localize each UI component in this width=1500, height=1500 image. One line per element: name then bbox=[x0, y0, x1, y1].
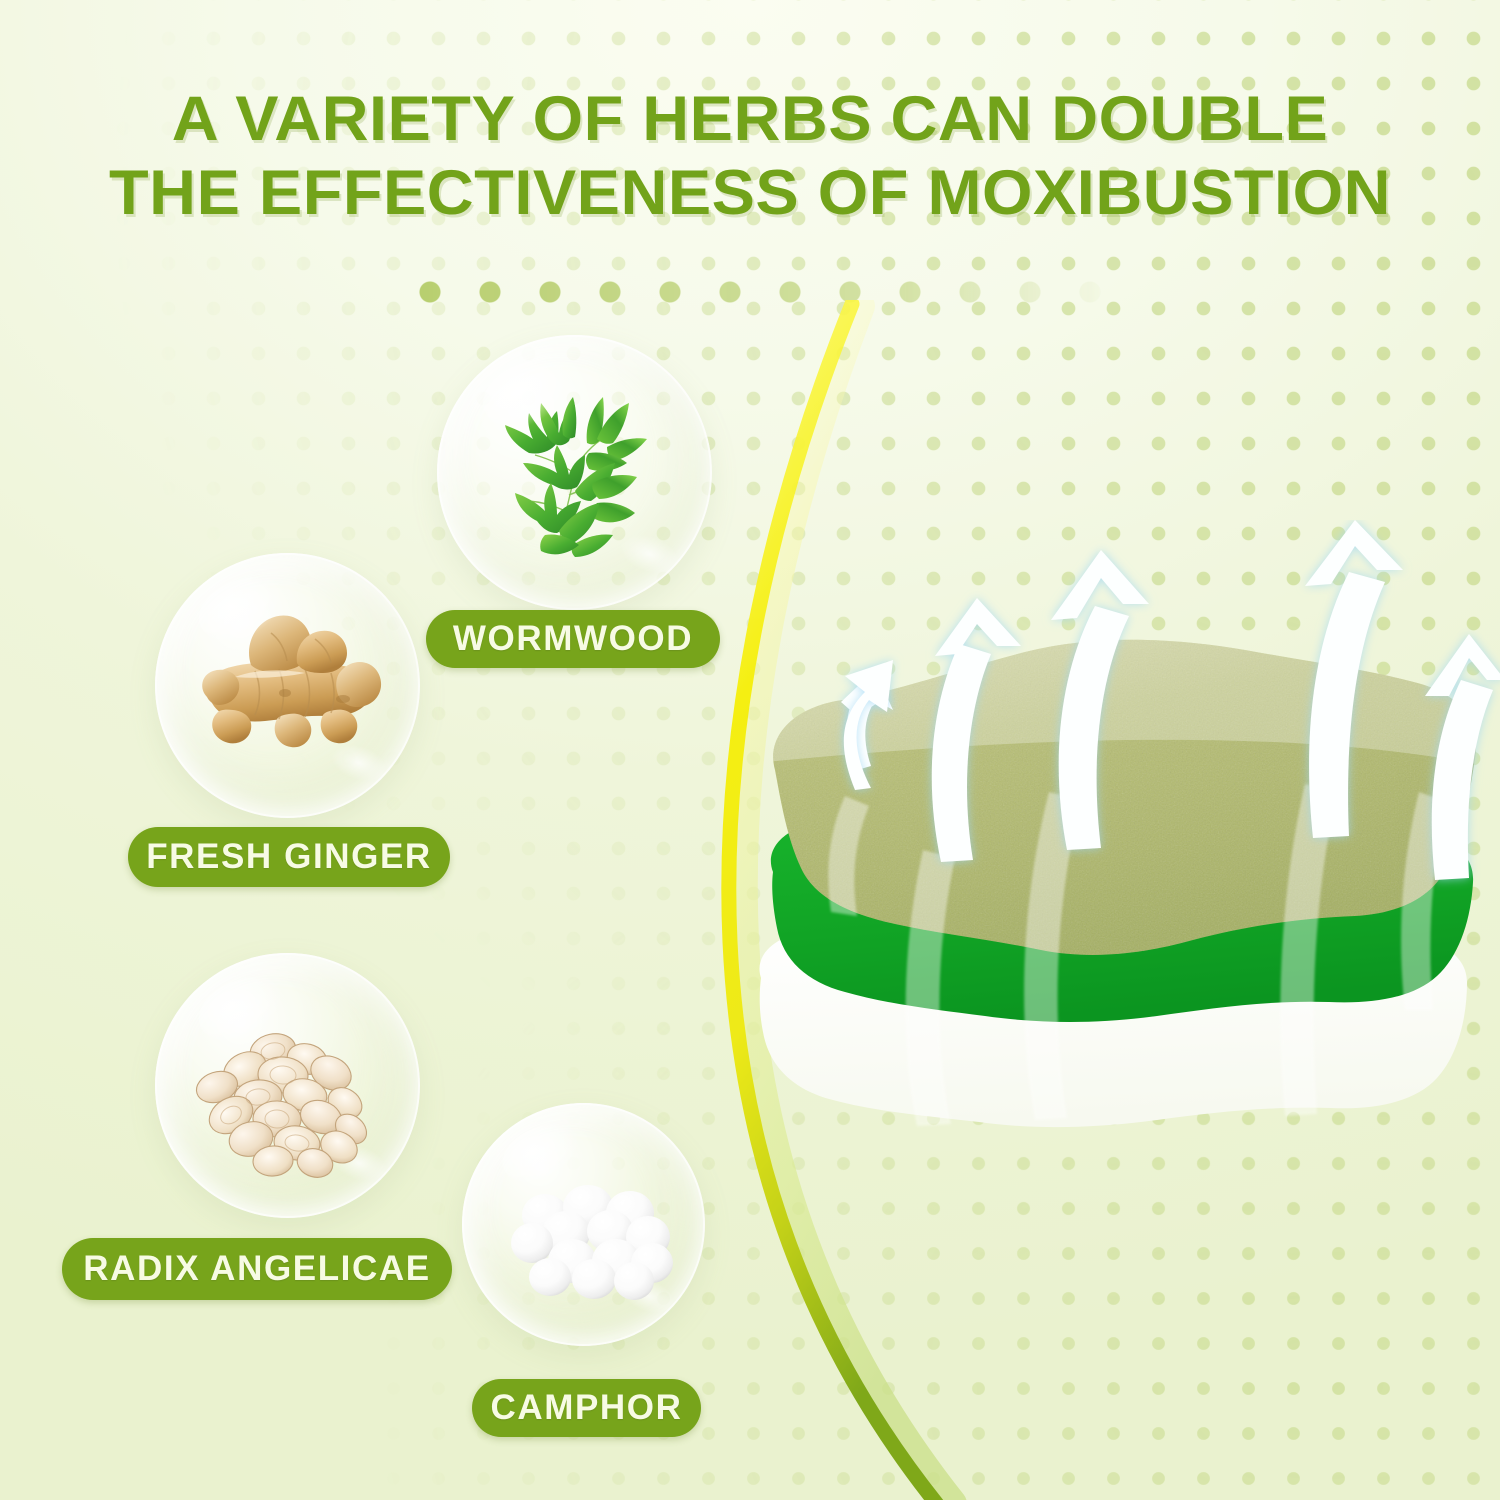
ingredient-bubble-wormwood bbox=[437, 335, 712, 610]
background-dot-row-accent bbox=[400, 262, 1120, 322]
page-title: A VARIETY OF HERBS CAN DOUBLE THE EFFECT… bbox=[0, 82, 1500, 231]
ingredient-infographic: A VARIETY OF HERBS CAN DOUBLE THE EFFECT… bbox=[0, 0, 1500, 1500]
page-title-line-2: THE EFFECTIVENESS OF MOXIBUSTION bbox=[0, 156, 1500, 230]
bubble-rim bbox=[462, 1103, 705, 1346]
ingredient-label-radix-angelicae: RADIX ANGELICAE bbox=[62, 1238, 452, 1300]
bubble-rim bbox=[155, 953, 420, 1218]
bubble-rim bbox=[155, 553, 420, 818]
bubble-rim bbox=[437, 335, 712, 610]
ingredient-bubble-camphor bbox=[462, 1103, 705, 1346]
patch-layer-herbal bbox=[745, 620, 1500, 960]
moxibustion-patch-illustration bbox=[745, 520, 1500, 1180]
page-title-line-1: A VARIETY OF HERBS CAN DOUBLE bbox=[0, 82, 1500, 156]
ingredient-label-camphor: CAMPHOR bbox=[472, 1379, 701, 1437]
ingredient-bubble-fresh-ginger bbox=[155, 553, 420, 818]
ingredient-bubble-radix-angelicae bbox=[155, 953, 420, 1218]
ingredient-label-wormwood: WORMWOOD bbox=[426, 610, 720, 668]
ingredient-label-fresh-ginger: FRESH GINGER bbox=[128, 827, 450, 887]
